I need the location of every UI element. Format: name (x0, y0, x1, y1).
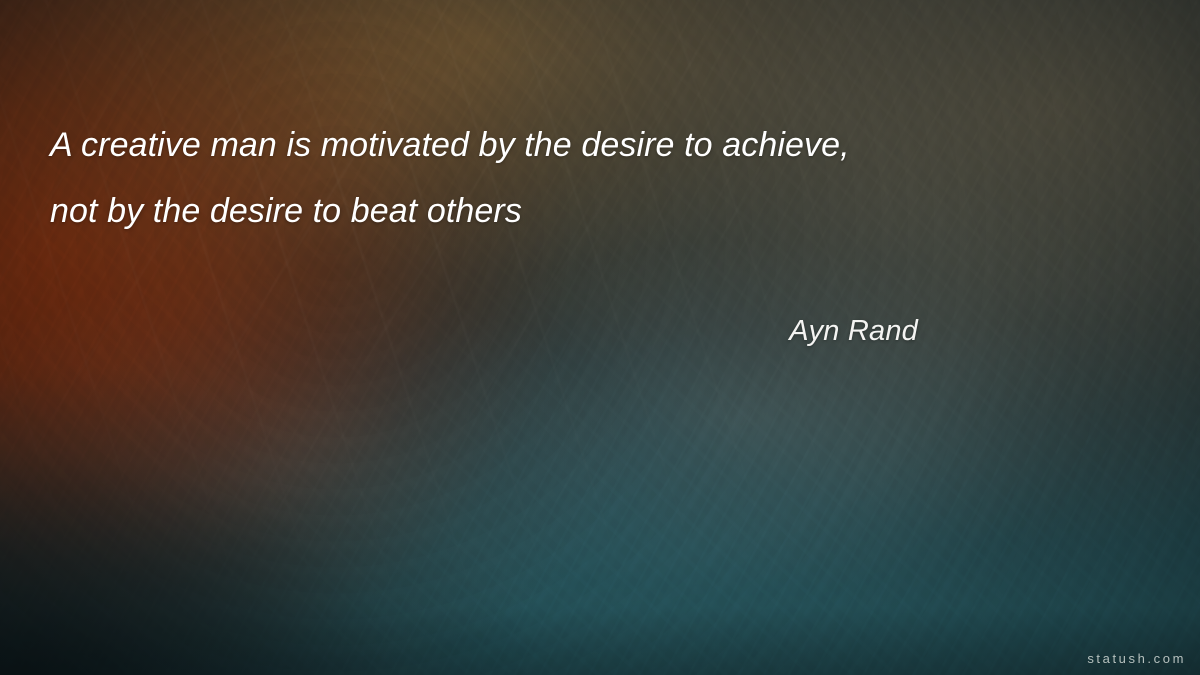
author-name: Ayn Rand (0, 315, 918, 348)
watermark-statush: statush.com (1087, 651, 1186, 666)
quote-text-block: A creative man is motivated by the desir… (50, 112, 950, 244)
quote-card: A creative man is motivated by the desir… (0, 0, 1200, 675)
author-attribution: Ayn Rand (0, 315, 1200, 355)
quote-line-2: not by the desire to beat others (50, 178, 950, 244)
quote-line-1: A creative man is motivated by the desir… (50, 112, 950, 178)
